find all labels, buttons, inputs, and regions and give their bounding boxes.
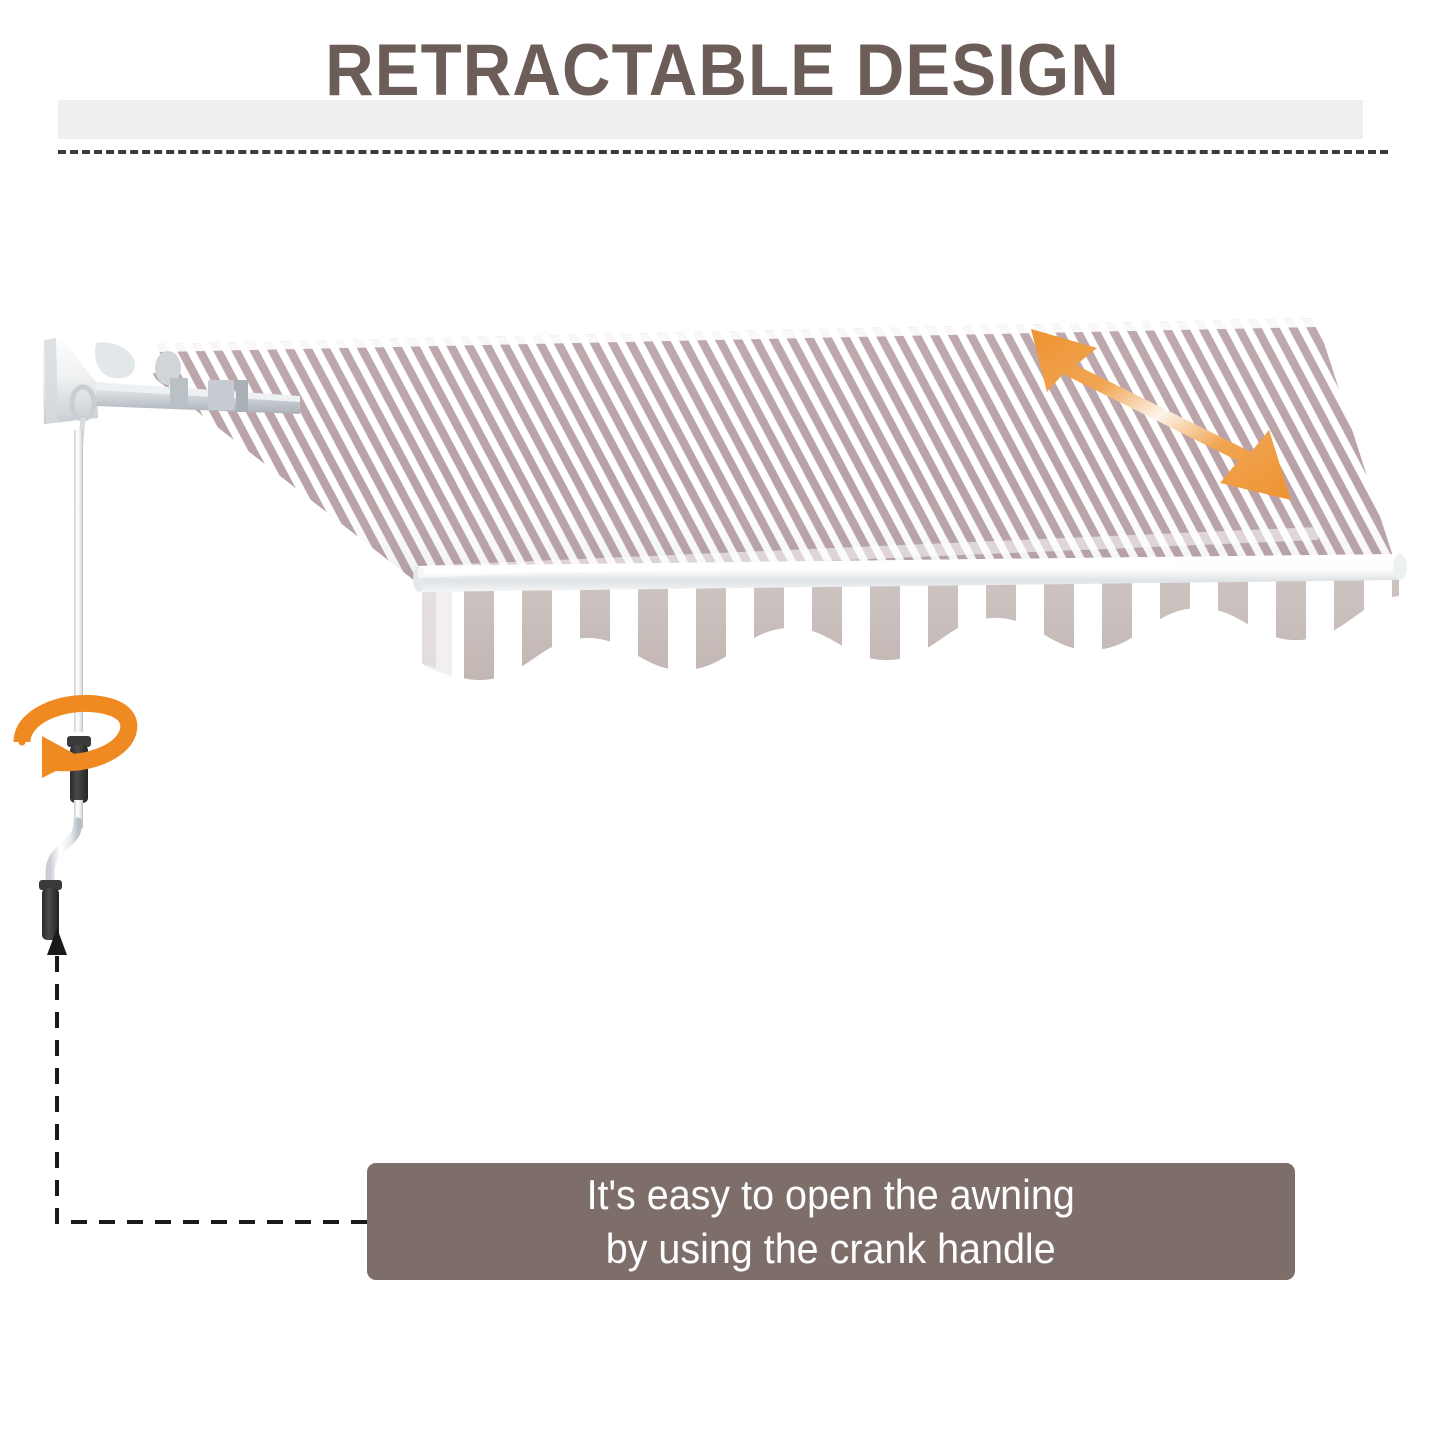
caption-text: It's easy to open the awning by using th…	[587, 1168, 1075, 1276]
crank-handle-callout	[47, 928, 367, 1222]
awning-canopy	[112, 318, 1398, 585]
caption-box: It's easy to open the awning by using th…	[367, 1163, 1295, 1280]
crank-handle	[39, 430, 91, 940]
product-marketing-image: RETRACTABLE DESIGN	[0, 0, 1445, 1445]
